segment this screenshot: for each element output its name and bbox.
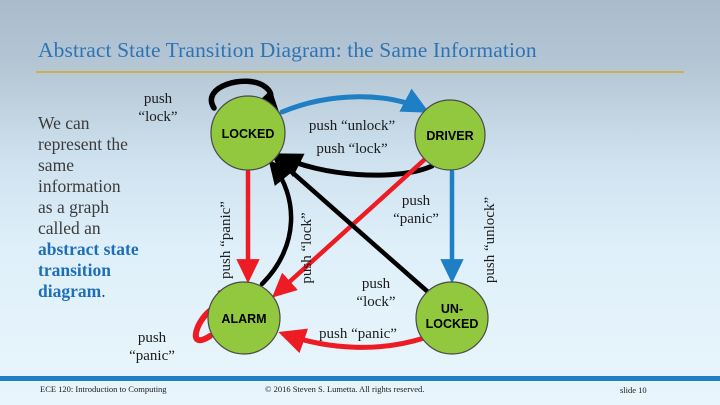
node-unlocked-label-line1: UN- [441,302,463,316]
footer-slide-number: slide 10 [620,385,647,395]
slide-canvas: Abstract State Transition Diagram: the S… [0,0,720,405]
footer: ECE 120: Introduction to Computing © 201… [0,384,720,405]
label-panic-left: push “panic” [218,201,234,279]
footer-bar [0,376,720,381]
label-lock-left: push “lock” [299,212,315,283]
label-unlock-top: push “unlock” [309,118,395,134]
label-lock-mid-line2: “lock” [356,294,395,310]
label-lock-top: push “lock” [316,141,387,157]
label-panic-mid-line1: push [402,193,431,209]
node-driver[interactable]: DRIVER [415,100,485,170]
edge-locked-to-driver-unlock [282,97,424,112]
footer-course: ECE 120: Introduction to Computing [40,384,167,394]
node-unlocked[interactable]: UN- LOCKED [416,282,488,354]
node-alarm-label: ALARM [221,312,266,326]
label-panic-bottom: push “panic” [319,326,397,342]
node-locked-label: LOCKED [222,127,275,141]
label-panic-mid-line2: “panic” [393,211,439,227]
node-driver-label: DRIVER [426,129,473,143]
label-alarm-self-line2: “panic” [129,348,175,364]
label-alarm-self-line1: push [138,330,167,346]
label-locked-self-line2: “lock” [138,109,177,125]
state-transition-diagram: LOCKED DRIVER ALARM UN- LOCKED push “loc… [0,0,720,405]
label-locked-self-line1: push [144,91,173,107]
footer-copyright: © 2016 Steven S. Lumetta. All rights res… [265,384,424,394]
label-unlock-right: push “unlock” [482,197,498,283]
node-alarm[interactable]: ALARM [208,282,280,354]
edge-alarm-to-locked-lock [262,164,291,284]
label-lock-mid-line1: push [362,276,391,292]
node-unlocked-label-line2: LOCKED [426,317,479,331]
node-locked[interactable]: LOCKED [211,96,285,170]
